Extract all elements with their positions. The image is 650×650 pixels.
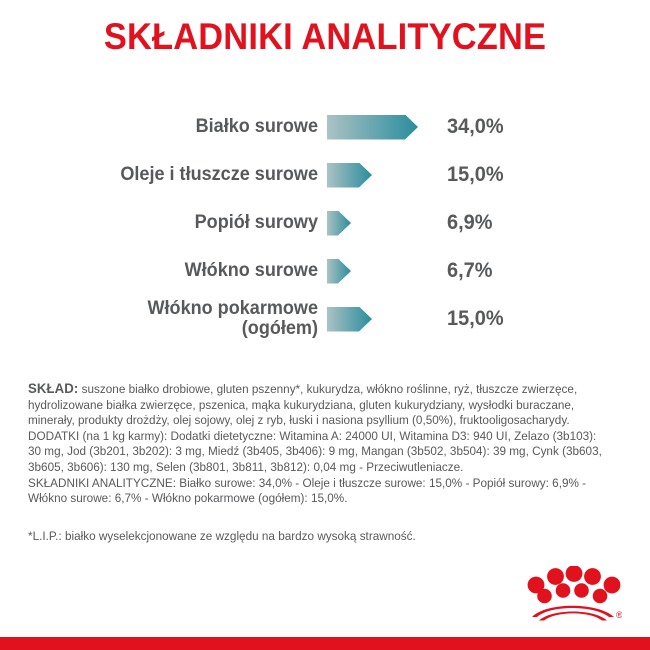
- nutrient-bar: [327, 307, 372, 332]
- nutrient-label: Włókno surowe: [16, 261, 318, 281]
- nutrient-value: 34,0%: [447, 115, 504, 139]
- footnote: *L.I.P.: białko wyselekcjonowane ze wzgl…: [28, 529, 610, 545]
- nutrient-value: 6,9%: [447, 211, 492, 235]
- table-row: Włókno surowe 6,7%: [0, 247, 650, 295]
- registered-mark: ®: [616, 610, 622, 620]
- royal-canin-crown-logo: ®: [526, 566, 622, 624]
- bar-container: [327, 151, 447, 199]
- additives-paragraph: DODATKI (na 1 kg karmy): Dodatki dietety…: [28, 429, 610, 476]
- bar-container: [327, 247, 447, 295]
- composition-label: SKŁAD:: [28, 381, 78, 396]
- nutrient-bar: [327, 259, 351, 284]
- crown-icon: ®: [526, 566, 622, 624]
- nutrient-value: 6,7%: [447, 259, 492, 283]
- nutrient-bar: [327, 211, 351, 236]
- nutrient-bar: [327, 163, 372, 188]
- bar-container: [327, 295, 447, 343]
- bar-container: [327, 199, 447, 247]
- table-row: Włókno pokarmowe (ogółem) 15,0%: [0, 295, 650, 343]
- nutrient-label: Włókno pokarmowe (ogółem): [16, 299, 318, 339]
- nutrient-label: Popiół surowy: [16, 213, 318, 233]
- nutrient-label: Białko surowe: [16, 117, 318, 137]
- analytical-paragraph: SKŁADNIKI ANALITYCZNE: Białko surowe: 34…: [28, 476, 610, 507]
- analytical-constituents-chart: Białko surowe 34,0% Oleje i tłuszcze sur…: [0, 103, 650, 343]
- ingredients-block: SKŁAD: suszone białko drobiowe, gluten p…: [28, 381, 610, 507]
- table-row: Białko surowe 34,0%: [0, 103, 650, 151]
- page-title: SKŁADNIKI ANALITYCZNE: [23, 16, 628, 58]
- nutrient-value: 15,0%: [447, 307, 504, 331]
- bottom-accent-bar: [0, 637, 650, 650]
- table-row: Popiół surowy 6,9%: [0, 199, 650, 247]
- nutrient-value: 15,0%: [447, 163, 504, 187]
- table-row: Oleje i tłuszcze surowe 15,0%: [0, 151, 650, 199]
- nutrient-label: Oleje i tłuszcze surowe: [16, 165, 318, 185]
- composition-paragraph: SKŁAD: suszone białko drobiowe, gluten p…: [28, 381, 610, 429]
- composition-text: suszone białko drobiowe, gluten pszenny*…: [28, 382, 577, 427]
- nutrition-info-page: SKŁADNIKI ANALITYCZNE Białko surowe 34,0…: [0, 0, 650, 650]
- nutrient-bar: [327, 115, 418, 140]
- bar-container: [327, 103, 447, 151]
